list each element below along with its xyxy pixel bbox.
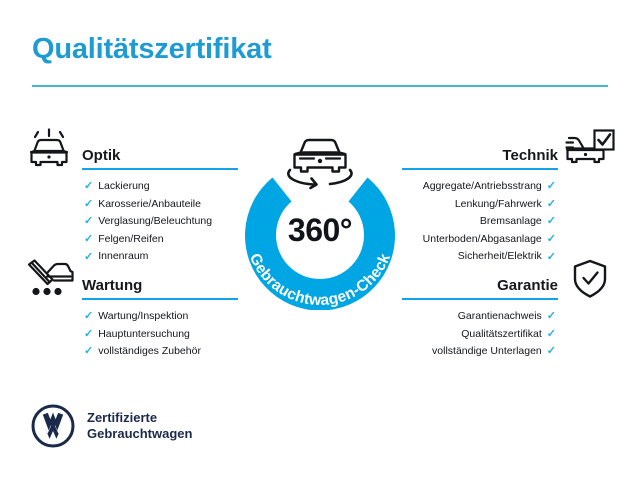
list-item: ✓Verglasung/Beleuchtung: [22, 213, 237, 231]
list-item: Qualitätszertifikat✓: [403, 326, 618, 344]
list-item-label: Hauptuntersuchung: [98, 326, 190, 344]
section-header-wartung: Wartung: [22, 258, 237, 302]
list-item: ✓Felgen/Reifen: [22, 231, 237, 249]
list-item: Garantienachweis✓: [403, 308, 618, 326]
header-divider: [32, 85, 608, 87]
checklist-optik: ✓Lackierung ✓Karosserie/Anbauteile ✓Verg…: [22, 172, 237, 266]
page-title: Qualitätszertifikat: [32, 33, 272, 66]
list-item: vollständige Unterlagen✓: [403, 343, 618, 361]
list-item: Lenkung/Fahrwerk✓: [403, 196, 618, 214]
car-checkbox-icon: [564, 128, 616, 170]
list-item-label: Qualitätszertifikat: [461, 326, 542, 344]
list-item-label: vollständiges Zubehör: [98, 343, 201, 361]
list-item-label: Unterboden/Abgasanlage: [423, 231, 542, 249]
checklist-garantie: Garantienachweis✓ Qualitätszertifikat✓ v…: [403, 302, 618, 361]
list-item-label: Aggregate/Antriebsstrang: [423, 178, 542, 196]
badge-degrees: 360°: [228, 212, 412, 249]
list-item-label: Lenkung/Fahrwerk: [455, 196, 542, 214]
footer-line-2: Gebrauchtwagen: [87, 426, 192, 442]
section-rule-technik: [402, 168, 558, 170]
list-item: ✓Hauptuntersuchung: [22, 326, 237, 344]
certificate-page: Qualitätszertifikat Optik: [0, 0, 640, 480]
check-icon: ✓: [547, 329, 556, 340]
checklist-technik: Aggregate/Antriebsstrang✓ Lenkung/Fahrwe…: [403, 172, 618, 266]
shield-check-icon: [564, 258, 616, 300]
section-title-garantie: Garantie: [497, 277, 558, 294]
check-icon: ✓: [84, 199, 93, 210]
check-icon: ✓: [547, 216, 556, 227]
list-item-label: vollständige Unterlagen: [432, 343, 542, 361]
section-title-technik: Technik: [502, 147, 558, 164]
section-title-wartung: Wartung: [82, 277, 142, 294]
car-shine-icon: [24, 128, 76, 170]
section-rule-wartung: [82, 298, 238, 300]
section-garantie: Garantie Garantienachweis✓ Qualitätszert…: [403, 258, 618, 361]
check-icon: ✓: [547, 199, 556, 210]
check-icon: ✓: [84, 181, 93, 192]
list-item-label: Bremsanlage: [480, 213, 542, 231]
check-icon: ✓: [84, 346, 93, 357]
check-icon: ✓: [84, 234, 93, 245]
section-header-garantie: Garantie: [403, 258, 618, 302]
list-item: ✓vollständiges Zubehör: [22, 343, 237, 361]
footer-line-1: Zertifizierte: [87, 410, 192, 426]
list-item: Unterboden/Abgasanlage✓: [403, 231, 618, 249]
list-item: ✓Wartung/Inspektion: [22, 308, 237, 326]
check-icon: ✓: [547, 234, 556, 245]
list-item: Bremsanlage✓: [403, 213, 618, 231]
list-item-label: Verglasung/Beleuchtung: [98, 213, 212, 231]
list-item-label: Garantienachweis: [458, 308, 542, 326]
badge-360-gebrauchtwagen-check: Gebrauchtwagen-Check 360°: [228, 114, 412, 310]
list-item: ✓Lackierung: [22, 178, 237, 196]
list-item-label: Lackierung: [98, 178, 149, 196]
check-icon: ✓: [84, 216, 93, 227]
list-item: Aggregate/Antriebsstrang✓: [403, 178, 618, 196]
pen-car-service-icon: [24, 258, 76, 300]
section-rule-optik: [82, 168, 238, 170]
check-icon: ✓: [547, 311, 556, 322]
check-icon: ✓: [547, 181, 556, 192]
checklist-wartung: ✓Wartung/Inspektion ✓Hauptuntersuchung ✓…: [22, 302, 237, 361]
section-wartung: Wartung ✓Wartung/Inspektion ✓Hauptunters…: [22, 258, 237, 361]
volkswagen-logo: [31, 404, 75, 448]
section-title-optik: Optik: [82, 147, 120, 164]
list-item: ✓Karosserie/Anbauteile: [22, 196, 237, 214]
section-rule-garantie: [402, 298, 558, 300]
section-optik: Optik ✓Lackierung ✓Karosserie/Anbauteile…: [22, 128, 237, 266]
check-icon: ✓: [84, 329, 93, 340]
list-item-label: Felgen/Reifen: [98, 231, 163, 249]
list-item-label: Karosserie/Anbauteile: [98, 196, 201, 214]
footer-branding: Zertifizierte Gebrauchtwagen: [31, 404, 192, 448]
footer-text: Zertifizierte Gebrauchtwagen: [87, 410, 192, 442]
section-technik: Technik Aggregate/Antriebsstrang✓ Lenkun…: [403, 128, 618, 266]
section-header-optik: Optik: [22, 128, 237, 172]
section-header-technik: Technik: [403, 128, 618, 172]
check-icon: ✓: [84, 311, 93, 322]
list-item-label: Wartung/Inspektion: [98, 308, 188, 326]
check-icon: ✓: [547, 346, 556, 357]
